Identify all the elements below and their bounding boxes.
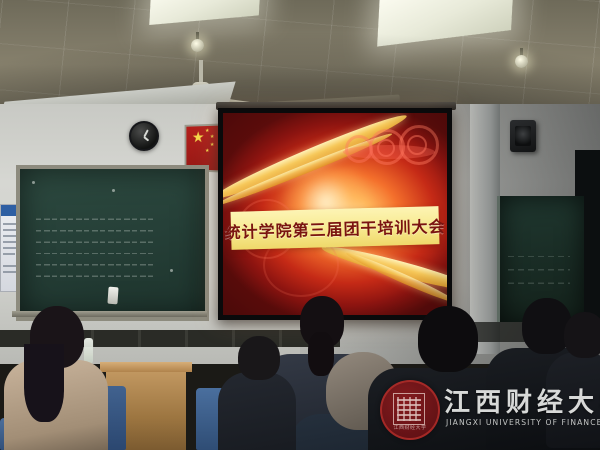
wall-speaker-icon: [510, 120, 536, 152]
watermark-english-name: JIANGXI UNIVERSITY OF FINANCE AND ECONOM…: [446, 418, 600, 427]
blackboard: [16, 165, 209, 321]
classroom-photo: ★ ★ ★ ★ ★: [0, 0, 600, 450]
seal-arc-text: 江西财经大学: [393, 424, 426, 431]
downlight-right: [515, 55, 528, 68]
person-head: [238, 336, 280, 380]
projection-screen[interactable]: 统计学院第三届团干培训大会: [218, 108, 452, 320]
wall-clock-icon: [129, 121, 159, 151]
presentation-slide: 统计学院第三届团干培训大会: [223, 113, 447, 315]
person-head: [564, 312, 600, 358]
person-body: [218, 372, 296, 450]
podium-top: [100, 362, 192, 372]
person-head: [418, 306, 478, 372]
seal-inner-square: [393, 393, 425, 425]
downlight-left: [191, 39, 204, 52]
slide-vignette: [223, 113, 447, 315]
chalk-writing: [36, 211, 154, 287]
chalk-writing-right: [508, 248, 570, 296]
person-hair: [24, 344, 64, 422]
university-seal-icon: 江西财经大学: [380, 380, 440, 440]
university-watermark: 江西财经大学 江西财经大学 JIANGXI UNIVERSITY OF FINA…: [378, 376, 596, 442]
watermark-chinese-name: 江西财经大学: [444, 382, 600, 419]
